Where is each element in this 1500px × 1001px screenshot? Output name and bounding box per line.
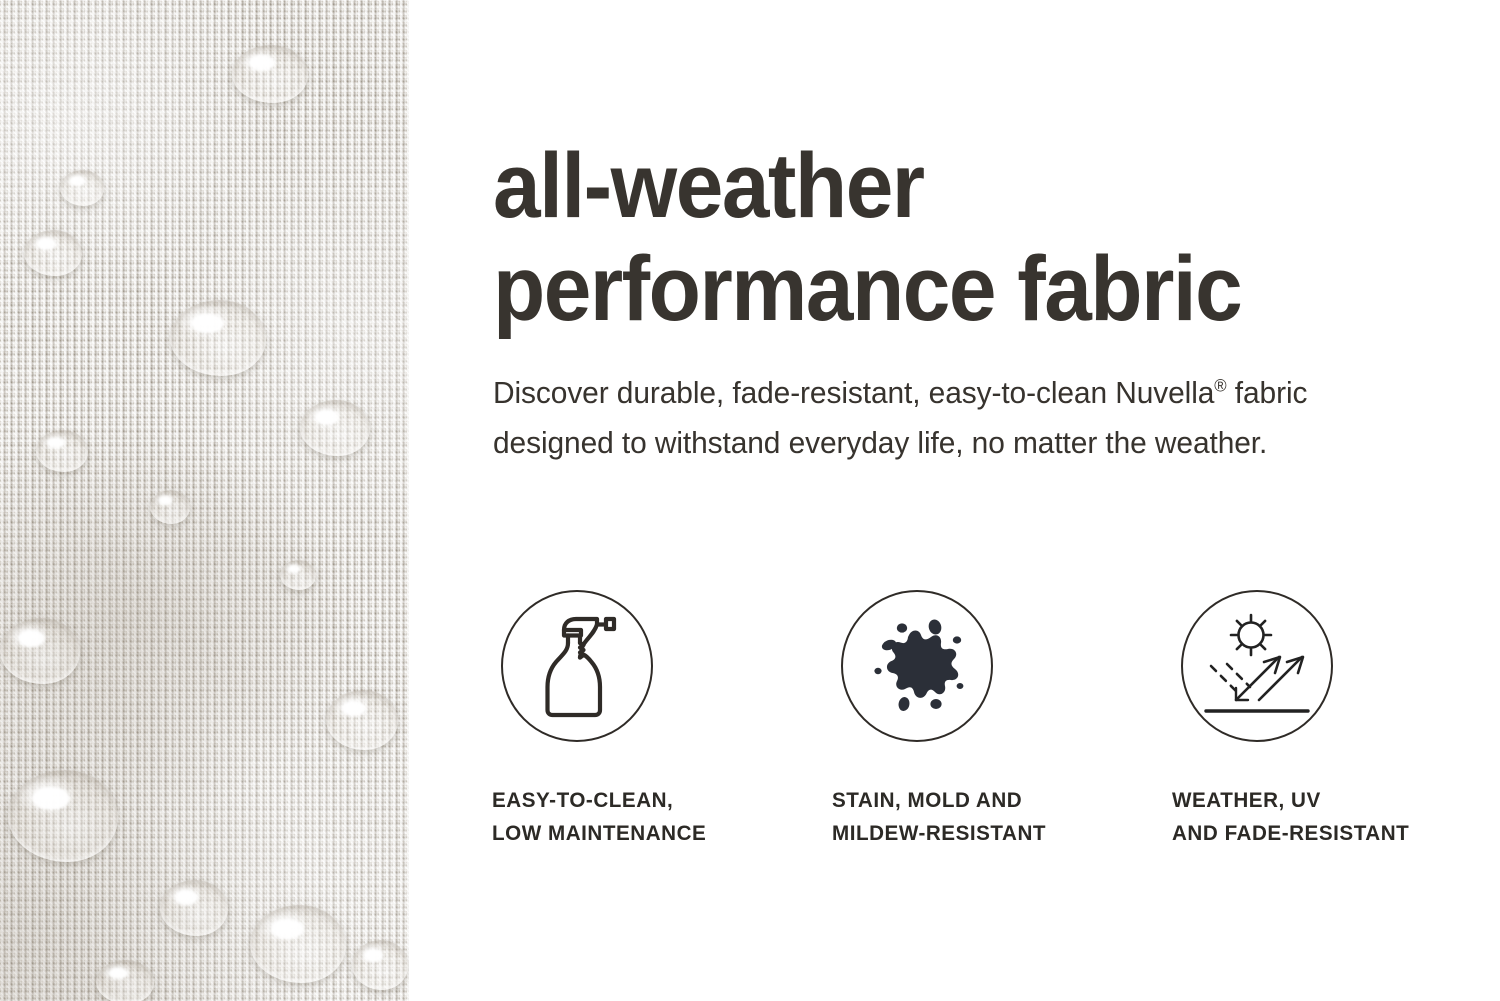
water-droplet [326,690,398,750]
feature-icon-badge [841,590,993,742]
feature-item-stain-resistant: STAIN, MOLD AND MILDEW-RESISTANT [832,590,1172,849]
feature-label: WEATHER, UV AND FADE-RESISTANT [1172,784,1409,849]
water-droplet [24,230,82,276]
water-droplet [96,960,154,1001]
water-droplet [8,770,118,862]
content-panel: all-weather performance fabric Discover … [409,0,1500,1001]
spray-bottle-icon [531,610,623,722]
sun-uv-reflect-icon [1201,612,1313,720]
water-droplet [36,430,88,472]
water-droplet [232,45,308,103]
feature-label: EASY-TO-CLEAN, LOW MAINTENANCE [492,784,706,849]
subcopy-paragraph: Discover durable, fade-resistant, easy-t… [493,368,1381,468]
stain-splatter-icon [865,616,969,716]
feature-icon-badge [1181,590,1333,742]
subcopy-line-3: no matter the weather. [972,425,1268,460]
feature-label: STAIN, MOLD AND MILDEW-RESISTANT [832,784,1046,849]
water-droplet [0,618,80,684]
water-droplet [250,905,346,983]
page-title: all-weather performance fabric [493,135,1442,341]
water-droplet [160,880,228,936]
all-weather-fabric-infographic: all-weather performance fabric Discover … [0,0,1500,1001]
feature-item-weather-uv-fade: WEATHER, UV AND FADE-RESISTANT [1172,590,1500,849]
feature-icon-badge [501,590,653,742]
water-droplet [352,940,408,990]
water-droplet [150,490,190,524]
fabric-photo-panel [0,0,409,1001]
feature-item-easy-to-clean: EASY-TO-CLEAN, LOW MAINTENANCE [492,590,832,849]
subcopy-line-1: Discover durable, fade-resistant, easy-t… [493,375,1107,410]
water-droplet [300,400,370,456]
brand-name: Nuvella [1115,375,1214,410]
water-droplet [60,170,104,206]
registered-trademark-icon: ® [1214,376,1226,396]
feature-list: EASY-TO-CLEAN, LOW MAINTENANCE [492,590,1500,849]
water-droplet [280,560,316,590]
water-droplet [170,300,266,376]
